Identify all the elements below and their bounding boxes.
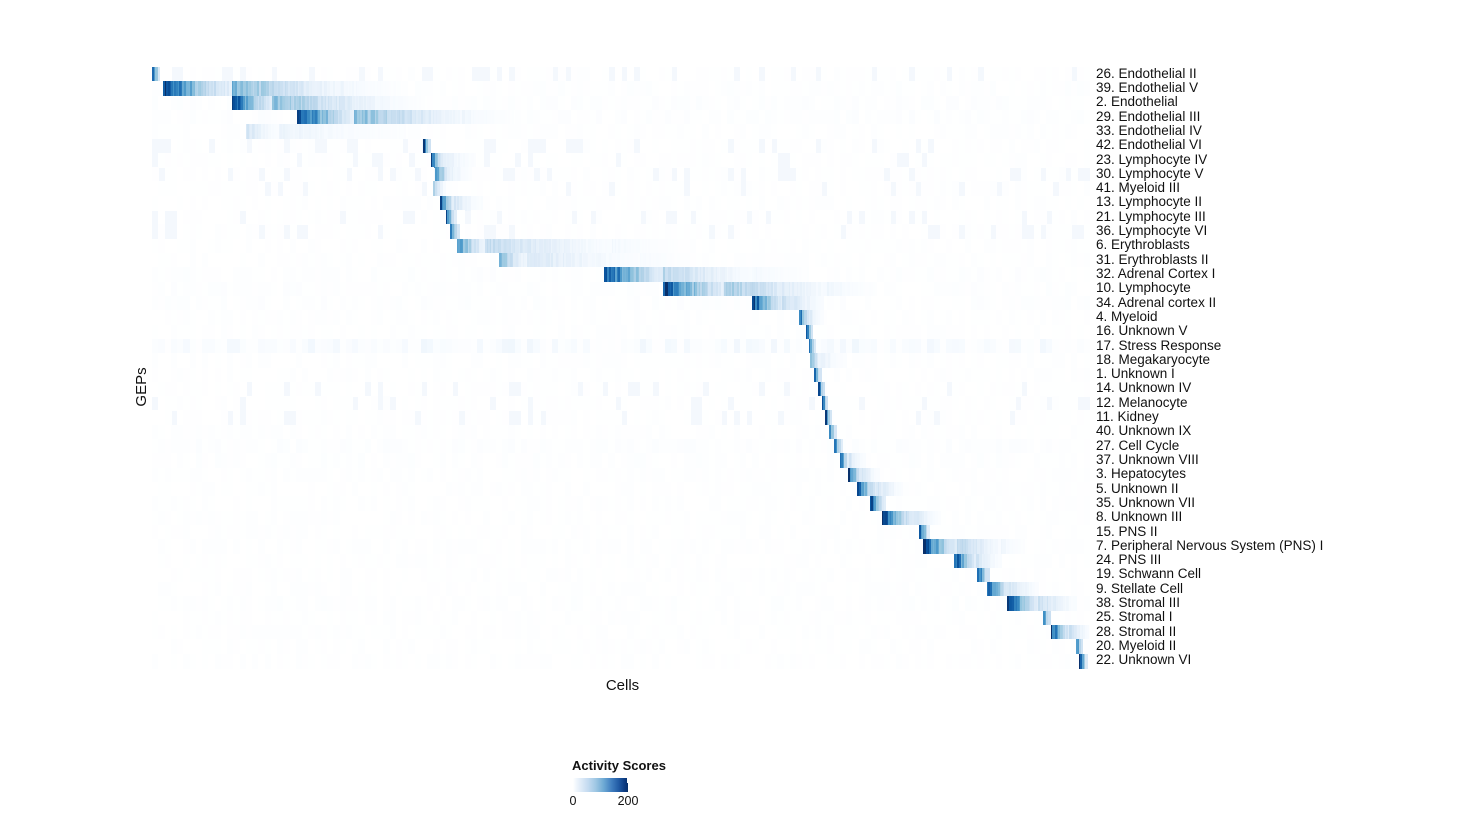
heatmap-cell-group: [427, 167, 434, 182]
heatmap-cell-group: [921, 139, 928, 154]
heatmap-cell-group: [422, 96, 425, 111]
heatmap-cell-group: [696, 382, 703, 397]
heatmap-cell-group: [477, 153, 484, 168]
heatmap-cell-group: [721, 139, 728, 154]
heatmap-row: [152, 267, 1090, 282]
heatmap-cell-group: [1084, 410, 1090, 425]
heatmap-cell-group: [277, 410, 284, 425]
heatmap-cell-group: [740, 410, 747, 425]
heatmap-cell-group: [290, 153, 297, 168]
heatmap-cell-group: [371, 224, 378, 239]
heatmap-cell-group: [852, 210, 859, 225]
heatmap-cell-group: [809, 67, 816, 82]
heatmap-cell-group: [852, 396, 859, 411]
heatmap-row: [152, 81, 1090, 96]
heatmap-cell-group: [1002, 410, 1009, 425]
heatmap-cell-group: [558, 139, 565, 154]
heatmap-cell-group: [621, 382, 628, 397]
heatmap-cell-group: [457, 224, 460, 239]
heatmap-cell-group: [533, 410, 540, 425]
heatmap-cell-group: [915, 153, 922, 168]
heatmap-cell-group: [602, 181, 609, 196]
heatmap-cell-group: [1084, 139, 1090, 154]
heatmap-cell-group: [1084, 181, 1090, 196]
heatmap-cell-group: [902, 210, 909, 225]
heatmap-cell-group: [608, 153, 615, 168]
heatmap-cell-group: [634, 210, 641, 225]
heatmap-cell-group: [646, 382, 653, 397]
heatmap-cell-group: [1065, 67, 1072, 82]
heatmap-row: [152, 310, 1090, 325]
heatmap-cell-group: [1034, 224, 1041, 239]
heatmap-cell-group: [826, 396, 828, 411]
heatmap-cell-group: [1046, 181, 1053, 196]
heatmap-cell-group: [465, 67, 472, 82]
heatmap-cell-group: [809, 139, 816, 154]
heatmap-cell-group: [346, 153, 353, 168]
heatmap-cell-group: [1040, 396, 1047, 411]
heatmap-cell-group: [684, 210, 691, 225]
heatmap-cell-group: [521, 410, 528, 425]
heatmap-cell-group: [890, 153, 897, 168]
heatmap-cell-group: [415, 67, 422, 82]
heatmap-row: [152, 282, 1090, 297]
heatmap-row: [152, 296, 1090, 311]
heatmap-cell-group: [502, 382, 509, 397]
heatmap-cell-group: [221, 410, 228, 425]
heatmap-cell-group: [346, 396, 353, 411]
heatmap-cell-group: [408, 167, 415, 182]
heatmap-cell-group: [821, 310, 823, 325]
heatmap-plot-area: [152, 67, 1090, 668]
heatmap-row: [152, 167, 1090, 182]
heatmap-cell-group: [677, 181, 684, 196]
heatmap-cell-group: [865, 139, 872, 154]
heatmap-cell-group: [915, 210, 922, 225]
heatmap-cell-group: [814, 339, 817, 354]
heatmap-cell-group: [158, 224, 165, 239]
heatmap-cell-group: [1084, 425, 1090, 440]
heatmap-cell-group: [558, 67, 565, 82]
heatmap-cell-group: [971, 67, 978, 82]
heatmap-cell-group: [1084, 267, 1090, 282]
heatmap-row: [152, 96, 1090, 111]
heatmap-cell-group: [396, 139, 403, 154]
heatmap-cell-group: [873, 282, 876, 297]
heatmap-cell-group: [512, 110, 515, 125]
heatmap-cell-group: [1084, 282, 1090, 297]
heatmap-cell-group: [383, 396, 390, 411]
heatmap-cell-group: [721, 167, 728, 182]
heatmap-cell-group: [469, 167, 471, 182]
heatmap-cell-group: [834, 224, 841, 239]
heatmap-cell-group: [490, 210, 497, 225]
heatmap-cell-group: [608, 396, 615, 411]
heatmap-cell-group: [615, 410, 622, 425]
heatmap-cell-group: [277, 224, 284, 239]
heatmap-row: [152, 67, 1090, 82]
heatmap-row: [152, 124, 1090, 139]
heatmap-cell-group: [540, 167, 547, 182]
heatmap-cell-group: [777, 382, 784, 397]
heatmap-cell-group: [602, 67, 609, 82]
heatmap-cell-group: [815, 181, 822, 196]
heatmap-cell-group: [684, 410, 691, 425]
heatmap-cell-group: [233, 210, 240, 225]
heatmap-cell-group: [952, 181, 959, 196]
heatmap-cell-group: [915, 396, 922, 411]
heatmap-cell-group: [458, 210, 465, 225]
heatmap-row: [152, 153, 1090, 168]
heatmap-cell-group: [415, 181, 422, 196]
heatmap-cell-group: [615, 67, 622, 82]
heatmap-cell-group: [296, 181, 303, 196]
heatmap-row: [152, 210, 1090, 225]
heatmap-cell-group: [909, 181, 916, 196]
heatmap-cell-group: [1084, 353, 1090, 368]
heatmap-cell-group: [521, 153, 528, 168]
heatmap-cell-group: [646, 167, 653, 182]
heatmap-figure: GEPs Cells 26. Endothelial II39. Endothe…: [0, 0, 1457, 815]
heatmap-cell-group: [290, 224, 297, 239]
heatmap-cell-group: [771, 167, 778, 182]
heatmap-cell-group: [1002, 167, 1009, 182]
heatmap-cell-group: [565, 210, 572, 225]
heatmap-cell-group: [771, 153, 778, 168]
heatmap-cell-group: [240, 382, 247, 397]
heatmap-cell-group: [665, 167, 672, 182]
heatmap-cell-group: [402, 153, 409, 168]
heatmap-cell-group: [271, 181, 278, 196]
heatmap-cell-group: [277, 167, 284, 182]
heatmap-cell-group: [902, 167, 909, 182]
heatmap-cell-group: [940, 67, 947, 82]
heatmap-cell-group: [233, 396, 240, 411]
heatmap-cell-group: [252, 224, 259, 239]
heatmap-cell-group: [508, 153, 515, 168]
heatmap-cell-group: [371, 167, 378, 182]
heatmap-cell-group: [1009, 396, 1016, 411]
heatmap-cell-group: [443, 181, 446, 196]
heatmap-cell-group: [265, 67, 272, 82]
heatmap-cell-group: [727, 410, 734, 425]
heatmap-cell-group: [446, 382, 453, 397]
heatmap-cell-group: [233, 67, 240, 82]
heatmap-cell-group: [546, 67, 553, 82]
heatmap-cell-group: [909, 139, 916, 154]
heatmap-cell-group: [490, 67, 497, 82]
heatmap-cell-group: [252, 167, 259, 182]
heatmap-row: [152, 439, 1090, 454]
heatmap-cell-group: [428, 139, 431, 154]
heatmap-cell-group: [759, 210, 766, 225]
heatmap-cell-group: [596, 382, 603, 397]
heatmap-cell-group: [721, 396, 728, 411]
heatmap-cell-group: [221, 167, 228, 182]
heatmap-cell-group: [1084, 339, 1090, 354]
heatmap-cell-group: [502, 67, 509, 82]
heatmap-row: [152, 181, 1090, 196]
heatmap-row: [152, 425, 1090, 440]
heatmap-cell-group: [715, 410, 722, 425]
heatmap-cell-group: [1084, 196, 1090, 211]
heatmap-cell-group: [308, 139, 315, 154]
heatmap-cell-group: [752, 67, 759, 82]
heatmap-cell-group: [727, 67, 734, 82]
heatmap-row: [152, 139, 1090, 154]
heatmap-cell-group: [784, 67, 791, 82]
heatmap-cell-group: [1084, 67, 1090, 82]
heatmap-cell-group: [659, 210, 666, 225]
heatmap-cell-group: [702, 224, 709, 239]
heatmap-cell-group: [558, 181, 565, 196]
heatmap-cell-group: [771, 410, 778, 425]
heatmap-cell-group: [1084, 310, 1090, 325]
heatmap-cell-group: [454, 210, 457, 225]
heatmap-cell-group: [404, 124, 407, 139]
heatmap-cell-group: [665, 67, 672, 82]
heatmap-row: [152, 382, 1090, 397]
heatmap-cell-group: [1084, 153, 1090, 168]
heatmap-cell-group: [921, 224, 928, 239]
heatmap-cell-group: [752, 382, 759, 397]
heatmap-row: [152, 325, 1090, 340]
heatmap-cell-group: [215, 67, 222, 82]
heatmap-cell-group: [940, 382, 947, 397]
heatmap-cell-group: [990, 181, 997, 196]
heatmap-cell-group: [821, 296, 824, 311]
heatmap-cell-group: [802, 396, 809, 411]
heatmap-row: [152, 396, 1090, 411]
heatmap-cell-group: [1084, 96, 1090, 111]
heatmap-row: [152, 110, 1090, 125]
heatmap-cell-group: [483, 396, 490, 411]
heatmap-cell-group: [1084, 296, 1090, 311]
heatmap-cell-group: [1015, 224, 1022, 239]
heatmap-cell-group: [865, 67, 872, 82]
heatmap-cell-group: [258, 181, 265, 196]
heatmap-cell-group: [415, 382, 422, 397]
heatmap-cell-group: [740, 210, 747, 225]
heatmap-cell-group: [521, 139, 528, 154]
heatmap-cell-group: [352, 67, 359, 82]
heatmap-cell-group: [884, 181, 891, 196]
heatmap-cell-group: [752, 139, 759, 154]
heatmap-cell-group: [721, 224, 728, 239]
heatmap-cell-group: [371, 67, 378, 82]
heatmap-cell-group: [240, 139, 247, 154]
heatmap-cell-group: [627, 139, 634, 154]
heatmap-cell-group: [233, 410, 240, 425]
heatmap-row: [152, 368, 1090, 383]
heatmap-cell-group: [684, 396, 691, 411]
heatmap-cell-group: [408, 410, 415, 425]
heatmap-cell-group: [302, 67, 309, 82]
heatmap-cell-group: [202, 139, 209, 154]
heatmap-cell-group: [1084, 210, 1090, 225]
heatmap-row: [152, 196, 1090, 211]
heatmap-cell-group: [765, 139, 772, 154]
heatmap-cell-group: [527, 167, 534, 182]
heatmap-cell-group: [830, 410, 832, 425]
heatmap-cell-group: [496, 167, 503, 182]
heatmap-cell-group: [1034, 167, 1041, 182]
heatmap-cell-group: [1084, 224, 1090, 239]
heatmap-cell-group: [583, 210, 590, 225]
heatmap-cell-group: [1084, 325, 1090, 340]
heatmap-cell-group: [627, 67, 634, 82]
heatmap-cell-group: [811, 325, 814, 340]
heatmap-cell-group: [909, 410, 916, 425]
heatmap-cell-group: [308, 382, 315, 397]
heatmap-cell-group: [521, 396, 528, 411]
heatmap-cell-group: [152, 167, 159, 182]
heatmap-cell-group: [1071, 167, 1078, 182]
heatmap-cell-group: [333, 210, 340, 225]
heatmap-cell-group: [877, 167, 884, 182]
heatmap-cell-group: [1084, 239, 1090, 254]
heatmap-cell-group: [1071, 396, 1078, 411]
heatmap-cell-group: [844, 353, 847, 368]
heatmap-cell-group: [807, 267, 810, 282]
heatmap-cell-group: [358, 382, 365, 397]
heatmap-row: [152, 253, 1090, 268]
heatmap-cell-group: [502, 410, 509, 425]
heatmap-cell-group: [365, 153, 372, 168]
heatmap-cell-group: [884, 210, 891, 225]
heatmap-cell-group: [474, 153, 476, 168]
heatmap-cell-group: [371, 382, 378, 397]
heatmap-row: [152, 239, 1090, 254]
heatmap-cell-group: [819, 368, 822, 383]
heatmap-cell-group: [371, 396, 378, 411]
heatmap-cell-group: [902, 67, 909, 82]
heatmap-cell-group: [399, 81, 402, 96]
heatmap-cell-group: [1084, 253, 1090, 268]
heatmap-cell-group: [1040, 210, 1047, 225]
heatmap-cell-group: [165, 67, 172, 82]
heatmap-cell-group: [1084, 124, 1090, 139]
heatmap-cell-group: [927, 410, 934, 425]
heatmap-cell-group: [477, 224, 484, 239]
heatmap-row: [152, 353, 1090, 368]
heatmap-cell-group: [158, 210, 165, 225]
heatmap-cell-group: [383, 167, 390, 182]
heatmap-cell-group: [340, 139, 347, 154]
heatmap-cell-group: [1015, 210, 1022, 225]
heatmap-cell-group: [165, 410, 172, 425]
heatmap-cell-group: [1059, 167, 1066, 182]
heatmap-cell-group: [277, 382, 284, 397]
heatmap-cell-group: [1015, 382, 1022, 397]
heatmap-cell-group: [452, 410, 459, 425]
heatmap-cell-group: [984, 224, 991, 239]
heatmap-cell-group: [677, 167, 684, 182]
heatmap-cell-group: [481, 196, 483, 211]
heatmap-cell-group: [1084, 368, 1090, 383]
heatmap-cell-group: [676, 239, 679, 254]
heatmap-cell-group: [734, 181, 741, 196]
heatmap-row: [152, 410, 1090, 425]
heatmap-cell-group: [1084, 382, 1090, 397]
heatmap-cell-group: [1084, 110, 1090, 125]
heatmap-cell-group: [834, 425, 837, 440]
heatmap-cell-group: [1065, 224, 1072, 239]
heatmap-cell-group: [477, 139, 484, 154]
heatmap-cell-group: [415, 139, 422, 154]
heatmap-cell-group: [685, 253, 688, 268]
heatmap-cell-group: [502, 224, 509, 239]
heatmap-row: [152, 224, 1090, 239]
heatmap-cell-group: [571, 382, 578, 397]
heatmap-cell-group: [952, 224, 959, 239]
heatmap-cell-group: [396, 210, 403, 225]
heatmap-cell-group: [158, 67, 160, 82]
heatmap-row: [152, 339, 1090, 354]
heatmap-cell-group: [277, 139, 284, 154]
heatmap-cell-group: [340, 167, 347, 182]
heatmap-cell-group: [1084, 81, 1090, 96]
heatmap-cell-group: [840, 210, 847, 225]
heatmap-cell-group: [734, 167, 741, 182]
heatmap-cell-group: [823, 382, 826, 397]
